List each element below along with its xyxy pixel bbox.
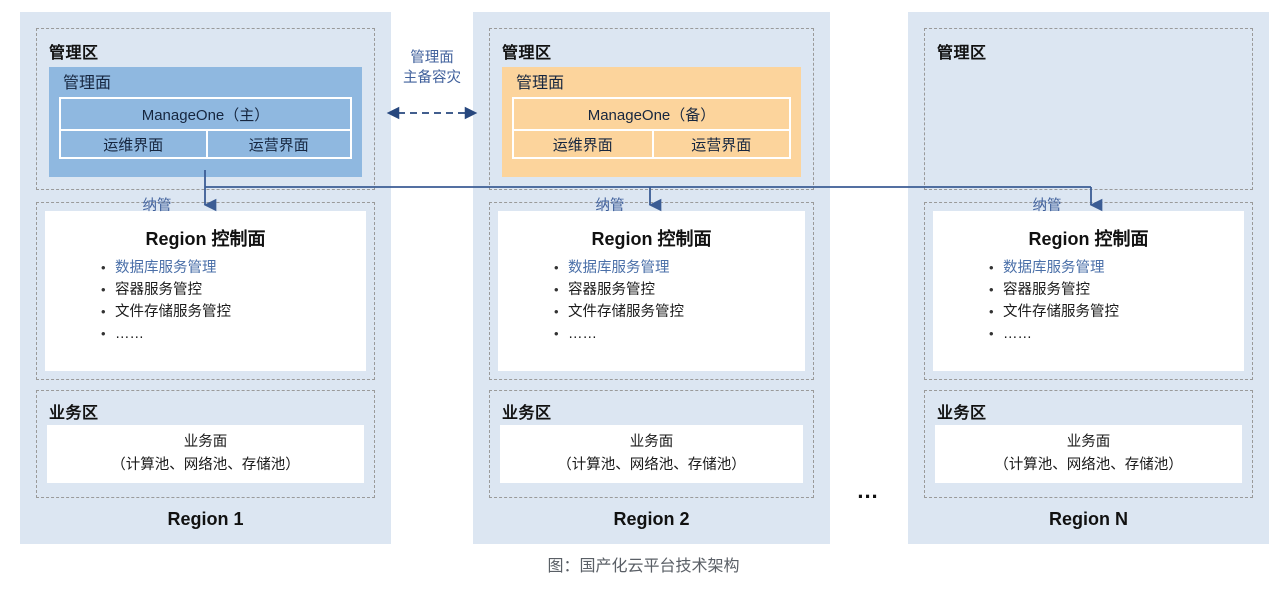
list-item: …… [101,323,366,345]
control-plane-card-n: Region 控制面 数据库服务管理 容器服务管控 文件存储服务管控 …… [933,211,1244,371]
list-item: 数据库服务管理 [101,257,366,279]
business-plane-pools: （计算池、网络池、存储池） [111,454,300,477]
dr-connector-label: 管理面 主备容灾 [393,48,471,88]
management-plane-title: 管理面 [59,71,352,97]
operations-interface-cell: 运营界面 [206,131,351,157]
business-zone-n: 业务区 业务面 （计算池、网络池、存储池） [924,390,1253,498]
control-plane-card-1: Region 控制面 数据库服务管理 容器服务管控 文件存储服务管控 …… [45,211,366,371]
list-item: 数据库服务管理 [554,257,805,279]
management-zone-2: 管理区 管理面 ManageOne（备） 运维界面 运营界面 [489,28,814,190]
list-item: …… [554,323,805,345]
management-zone-title: 管理区 [937,39,987,63]
business-zone-title: 业务区 [49,399,99,423]
business-plane-name: 业务面 [184,431,228,454]
manageone-primary-box: ManageOne（主） [59,97,352,129]
list-item: 容器服务管控 [554,279,805,301]
management-zone-1: 管理区 管理面 ManageOne（主） 运维界面 运营界面 [36,28,375,190]
region-card-n: 管理区 Region 控制面 数据库服务管理 容器服务管控 文件存储服务管控 …… [908,12,1269,544]
region-card-2: 管理区 管理面 ManageOne（备） 运维界面 运营界面 Region 控制… [473,12,830,544]
manageone-standby-interfaces: 运维界面 运营界面 [512,129,791,159]
business-plane-card-n: 业务面 （计算池、网络池、存储池） [935,425,1242,483]
control-plane-feature-list-1: 数据库服务管理 容器服务管控 文件存储服务管控 …… [45,257,366,345]
control-plane-zone-n: Region 控制面 数据库服务管理 容器服务管控 文件存储服务管控 …… [924,202,1253,380]
ops-interface-cell: 运维界面 [61,131,206,157]
business-plane-name: 业务面 [630,431,674,454]
control-plane-title: Region 控制面 [933,225,1244,251]
business-zone-title: 业务区 [937,399,987,423]
control-plane-feature-list-2: 数据库服务管理 容器服务管控 文件存储服务管控 …… [498,257,805,345]
control-plane-zone-2: Region 控制面 数据库服务管理 容器服务管控 文件存储服务管控 …… [489,202,814,380]
manage-label-region-2: 纳管 [583,196,637,216]
operations-interface-cell: 运营界面 [652,131,790,157]
region-footer-label-2: Region 2 [473,509,830,530]
control-plane-zone-1: Region 控制面 数据库服务管理 容器服务管控 文件存储服务管控 …… [36,202,375,380]
management-zone-n: 管理区 [924,28,1253,190]
list-item: 文件存储服务管控 [554,301,805,323]
manageone-primary-interfaces: 运维界面 运营界面 [59,129,352,159]
control-plane-title: Region 控制面 [45,225,366,251]
management-plane-title: 管理面 [512,71,791,97]
list-item: 容器服务管控 [101,279,366,301]
regions-ellipsis: ... [848,478,888,504]
list-item: 数据库服务管理 [989,257,1244,279]
list-item: 文件存储服务管控 [989,301,1244,323]
management-zone-title: 管理区 [502,39,552,63]
dr-label-line-2: 主备容灾 [393,68,471,88]
manageone-standby-box: ManageOne（备） [512,97,791,129]
control-plane-feature-list-n: 数据库服务管理 容器服务管控 文件存储服务管控 …… [933,257,1244,345]
business-plane-pools: （计算池、网络池、存储池） [557,454,746,477]
business-plane-pools: （计算池、网络池、存储池） [994,454,1183,477]
region-footer-label-n: Region N [908,509,1269,530]
control-plane-card-2: Region 控制面 数据库服务管理 容器服务管控 文件存储服务管控 …… [498,211,805,371]
list-item: …… [989,323,1244,345]
ops-interface-cell: 运维界面 [514,131,652,157]
business-plane-card-2: 业务面 （计算池、网络池、存储池） [500,425,803,483]
business-zone-title: 业务区 [502,399,552,423]
business-plane-name: 业务面 [1067,431,1111,454]
management-zone-title: 管理区 [49,39,99,63]
business-zone-2: 业务区 业务面 （计算池、网络池、存储池） [489,390,814,498]
dr-label-line-1: 管理面 [393,48,471,68]
region-footer-label-1: Region 1 [20,509,391,530]
list-item: 文件存储服务管控 [101,301,366,323]
business-zone-1: 业务区 业务面 （计算池、网络池、存储池） [36,390,375,498]
manage-label-region-n: 纳管 [1020,196,1074,216]
list-item: 容器服务管控 [989,279,1244,301]
figure-caption: 图：国产化云平台技术架构 [0,552,1287,576]
architecture-diagram: 管理区 管理面 ManageOne（主） 运维界面 运营界面 Region 控制… [0,0,1287,593]
business-plane-card-1: 业务面 （计算池、网络池、存储池） [47,425,364,483]
control-plane-title: Region 控制面 [498,225,805,251]
manage-label-region-1: 纳管 [130,196,184,216]
region-card-1: 管理区 管理面 ManageOne（主） 运维界面 运营界面 Region 控制… [20,12,391,544]
management-plane-standby: 管理面 ManageOne（备） 运维界面 运营界面 [502,67,801,177]
management-plane-primary: 管理面 ManageOne（主） 运维界面 运营界面 [49,67,362,177]
